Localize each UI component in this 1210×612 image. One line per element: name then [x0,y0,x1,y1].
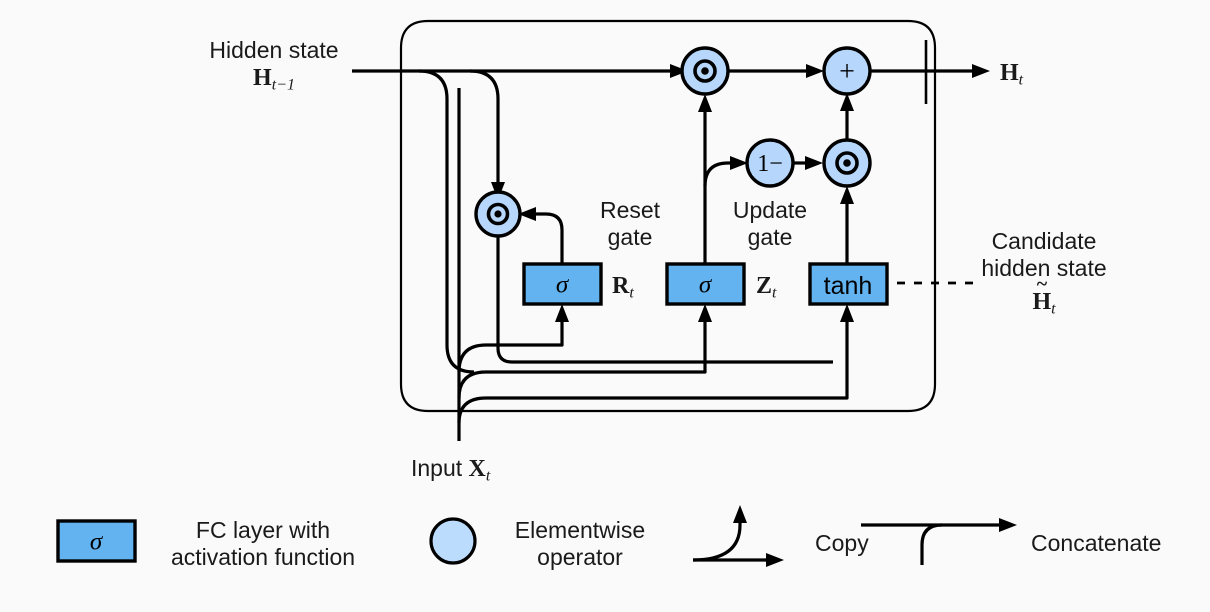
one-minus-operator[interactable]: 1− [747,140,793,186]
input-branch-update-wire [459,318,705,398]
hidden-state-input-label: Hidden state Ht−1 [196,37,352,95]
legend-concatenate-label: Concatenate [1031,530,1161,557]
legend-copy-label: Copy [815,530,869,557]
elementwise-add-operator[interactable]: + [824,48,870,94]
hidden-state-output-arrowhead [972,64,990,78]
candidate-fc-box[interactable]: tanh [810,264,887,304]
tanh-output-arrowhead [840,186,854,204]
legend-fc-layer-icon: σ [58,521,135,561]
legend-operator-label: Elementwise operator [495,517,665,571]
update-gate-symbol-label: Zt [756,272,776,303]
one-minus-output-arrowhead [805,156,823,170]
one-minus-glyph: 1− [757,151,783,177]
legend-fc-layer-glyph: σ [90,529,104,556]
legend-operator-circle-icon [431,519,475,563]
update-gate-branch-arrowhead [730,156,748,170]
gru-diagram-canvas: σ σ tanh [0,0,1210,612]
candidate-hidden-state-symbol-label: ~Ht [958,288,1130,319]
update-gate-activation-glyph: σ [699,272,713,299]
elementwise-add-glyph: + [839,57,855,88]
update-gate-branch-wire [705,163,734,186]
hidden-state-output-symbol: Ht [1000,60,1023,86]
top-multiply-to-add-arrowhead [806,64,824,78]
update-gate-label: Update gate [718,197,822,251]
input-branch-reset-arrowhead [555,304,569,322]
reset-gate-label: Reset gate [578,197,682,251]
hidden-state-branch-reset-wire [470,71,498,186]
elementwise-multiply-top[interactable] [682,48,728,94]
hidden-state-branch-left-wire [419,71,474,372]
input-branch-reset-wire [459,318,562,372]
legend-fc-layer-label: FC layer with activation function [163,517,363,571]
update-gate-output-arrowhead [698,94,712,112]
elementwise-multiply-candidate[interactable] [824,140,870,186]
input-branch-candidate-arrowhead [840,304,854,322]
elementwise-multiply-reset[interactable] [476,192,520,236]
input-xt-label: Input Xt [411,455,490,486]
reset-gate-symbol-label: Rt [612,272,634,303]
reset-gate-activation-glyph: σ [556,272,570,299]
hidden-state-input-symbol: Ht−1 [253,65,295,91]
reset-gate-output-wire [532,214,562,268]
hidden-state-output-label: Ht [1000,59,1023,90]
input-branch-update-arrowhead [698,304,712,322]
reset-gate-fc-box[interactable]: σ [524,264,601,304]
legend-copy-icon [693,505,784,567]
update-gate-fc-box[interactable]: σ [667,264,744,304]
legend-concatenate-icon [861,518,1017,565]
candidate-activation-glyph: tanh [824,272,873,300]
